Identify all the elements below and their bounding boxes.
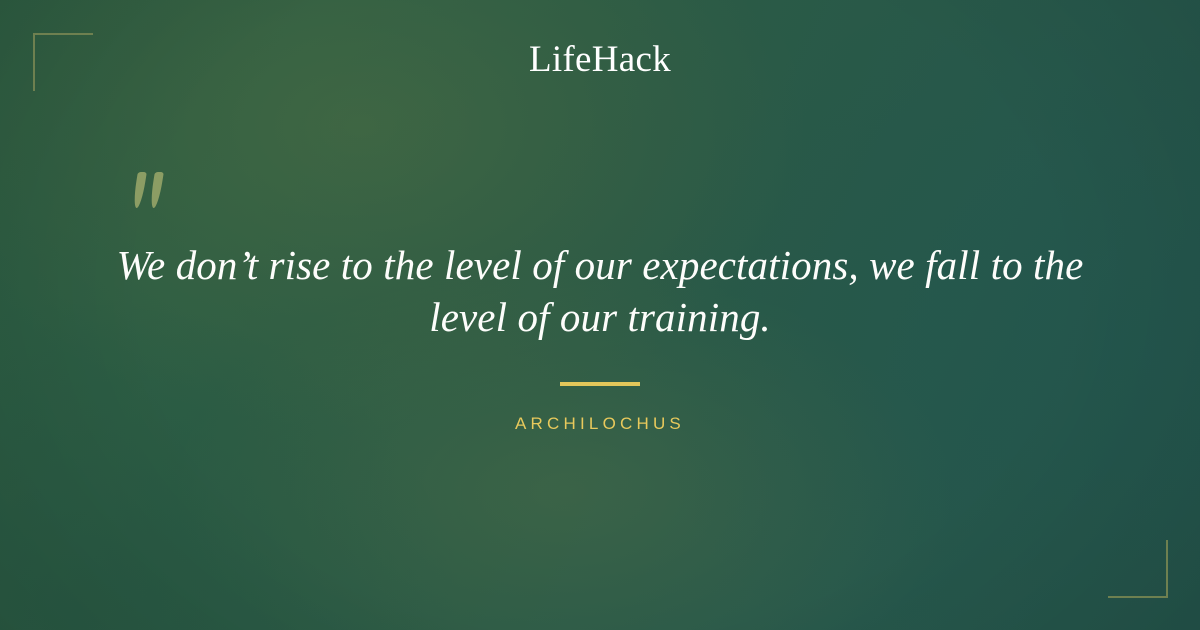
quotation-mark-stroke-left [132, 172, 147, 208]
quotation-mark-stroke-right [149, 172, 164, 208]
brand-logo: LifeHack [0, 41, 1200, 78]
corner-bracket-bottom-right-icon [1108, 540, 1168, 598]
quote-author: ARCHILOCHUS [0, 414, 1200, 434]
author-divider [560, 382, 640, 386]
corner-bracket-right-line [1166, 540, 1168, 598]
corner-bracket-bottom-line [1108, 596, 1168, 598]
quotation-mark-icon [133, 172, 175, 214]
quote-card: LifeHack We don’t rise to the level of o… [0, 0, 1200, 630]
quote-text: We don’t rise to the level of our expect… [100, 240, 1100, 343]
corner-bracket-top-line [33, 33, 93, 35]
